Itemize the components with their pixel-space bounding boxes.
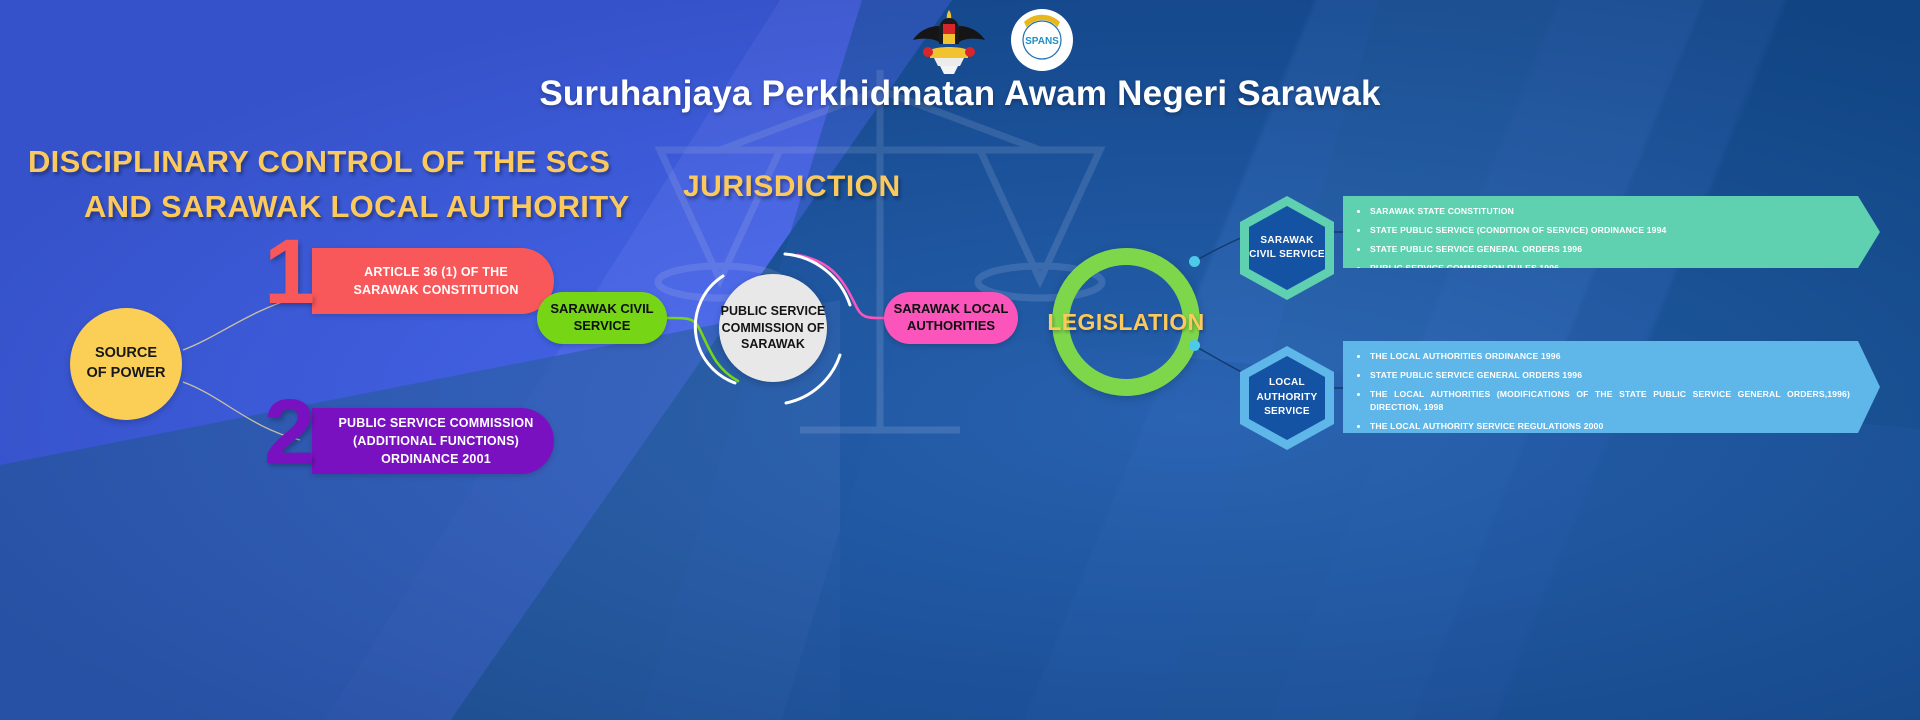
power-source-item-2-number: 2 (264, 386, 311, 478)
list-item: THE LOCAL AUTHORITIES ORDINANCE 1996 (1357, 350, 1850, 363)
jurisdiction-left-pill-label: SARAWAK CIVIL SERVICE (537, 301, 667, 335)
sarawak-coat-of-arms-icon (910, 4, 988, 76)
page-header: SPANS Suruhanjaya Perkhidmatan Awam Nege… (0, 0, 1920, 130)
legislation-node: LEGISLATION (1052, 248, 1200, 396)
left-heading-line-1: DISCIPLINARY CONTROL OF THE SCS (28, 140, 548, 185)
core-line-2: COMMISSION OF (722, 320, 825, 337)
power-source-item-1: ARTICLE 36 (1) OF THE SARAWAK CONSTITUTI… (264, 248, 508, 314)
legislation-branch-dot-bottom (1189, 340, 1200, 351)
left-section-heading: DISCIPLINARY CONTROL OF THE SCS AND SARA… (28, 140, 548, 230)
legislation-label: LEGISLATION (1047, 309, 1204, 336)
jurisdiction-right-pill: SARAWAK LOCAL AUTHORITIES (884, 292, 1018, 344)
source-of-power-line-2: OF POWER (87, 364, 166, 384)
legislation-list-sarawak-civil-service: SARAWAK STATE CONSTITUTION STATE PUBLIC … (1343, 196, 1880, 268)
legislation-branch-dot-top (1189, 256, 1200, 267)
core-line-1: PUBLIC SERVICE (721, 303, 826, 320)
jurisdiction-heading: JURISDICTION (683, 170, 901, 204)
list-item: THE LOCAL AUTHORITIES (MODIFICATIONS OF … (1357, 388, 1850, 414)
svg-text:SPANS: SPANS (1025, 36, 1059, 47)
page-title: Suruhanjaya Perkhidmatan Awam Negeri Sar… (0, 74, 1920, 114)
list-item: STATE PUBLIC SERVICE (CONDITION OF SERVI… (1357, 224, 1850, 237)
power-source-item-2: PUBLIC SERVICE COMMISSION (ADDITIONAL FU… (264, 408, 508, 474)
power-source-item-1-number: 1 (264, 226, 311, 318)
core-line-3: SARAWAK (741, 336, 805, 353)
list-item: SARAWAK STATE CONSTITUTION (1357, 205, 1850, 218)
legislation-list-2: THE LOCAL AUTHORITIES ORDINANCE 1996 STA… (1357, 350, 1850, 432)
power-source-item-2-label: PUBLIC SERVICE COMMISSION (ADDITIONAL FU… (312, 408, 554, 474)
source-of-power-line-1: SOURCE (95, 344, 157, 364)
source-of-power-node: SOURCE OF POWER (70, 308, 182, 420)
branch-hexagon-local-authority-service: LOCAL AUTHORITY SERVICE (1240, 346, 1334, 450)
infographic-canvas: SPANS Suruhanjaya Perkhidmatan Awam Nege… (0, 0, 1920, 720)
list-item: STATE PUBLIC SERVICE GENERAL ORDERS 1996 (1357, 243, 1850, 256)
jurisdiction-left-pill: SARAWAK CIVIL SERVICE (537, 292, 667, 344)
list-item: THE LOCAL AUTHORITY SERVICE REGULATIONS … (1357, 420, 1850, 433)
legislation-list-1: SARAWAK STATE CONSTITUTION STATE PUBLIC … (1357, 205, 1850, 275)
jurisdiction-core-node: PUBLIC SERVICE COMMISSION OF SARAWAK (719, 274, 827, 382)
logo-group: SPANS (910, 4, 1090, 76)
legislation-list-local-authority-service: THE LOCAL AUTHORITIES ORDINANCE 1996 STA… (1343, 341, 1880, 433)
jurisdiction-right-pill-label: SARAWAK LOCAL AUTHORITIES (884, 301, 1018, 335)
power-source-item-1-label: ARTICLE 36 (1) OF THE SARAWAK CONSTITUTI… (312, 248, 554, 314)
spans-logo-icon: SPANS (1010, 8, 1074, 72)
list-item: STATE PUBLIC SERVICE GENERAL ORDERS 1996 (1357, 369, 1850, 382)
branch-hexagon-sarawak-civil-service: SARAWAK CIVIL SERVICE (1240, 196, 1334, 300)
